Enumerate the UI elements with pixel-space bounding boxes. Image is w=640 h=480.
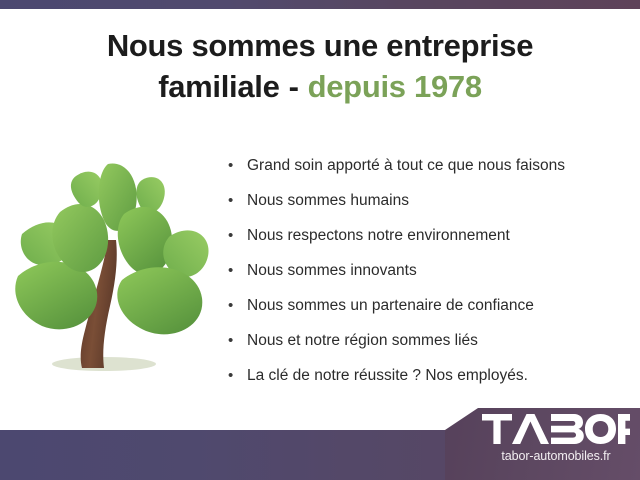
list-item-label: Nous respectons notre environnement <box>228 218 510 253</box>
tree-leaf-left-lower <box>15 262 97 330</box>
list-item: • Grand soin apporté à tout ce que nous … <box>228 148 628 183</box>
list-item: • Nous et notre région sommes liés <box>228 323 628 358</box>
list-item-label: Nous et notre région sommes liés <box>228 323 478 358</box>
page-title-line-2: familiale-depuis 1978 <box>0 67 640 108</box>
bullet-icon: • <box>228 253 244 288</box>
bullet-icon: • <box>228 218 244 253</box>
list-item: • Nous sommes humains <box>228 183 628 218</box>
tree-leaf-right-mid <box>118 207 172 275</box>
list-item: • Nous sommes innovants <box>228 253 628 288</box>
tree-leaf-upper-left-small <box>71 172 102 207</box>
top-accent-bar <box>0 0 640 9</box>
bullet-icon: • <box>228 358 244 393</box>
page-title-familiale: familiale <box>158 69 279 104</box>
tabor-wordmark <box>482 414 630 444</box>
list-item-label: La clé de notre réussite ? Nos employés. <box>228 358 528 393</box>
list-item: • La clé de notre réussite ? Nos employé… <box>228 358 628 393</box>
page-title: Nous sommes une entreprise familiale-dep… <box>0 26 640 108</box>
logo-tagline: tabor-automobiles.fr <box>482 449 630 463</box>
bullet-icon: • <box>228 288 244 323</box>
list-item-label: Nous sommes humains <box>228 183 409 218</box>
page-title-dash: - <box>289 69 299 104</box>
tree-leaf-left-mid <box>52 204 108 272</box>
page-title-line-1: Nous sommes une entreprise <box>0 26 640 67</box>
list-item: • Nous sommes un partenaire de confiance <box>228 288 628 323</box>
tree-illustration <box>12 152 222 390</box>
bullet-icon: • <box>228 183 244 218</box>
list-item: • Nous respectons notre environnement <box>228 218 628 253</box>
tree-ground-shadow <box>52 357 156 371</box>
bullet-icon: • <box>228 323 244 358</box>
page-title-since-year: depuis 1978 <box>308 69 482 104</box>
tree-leaf-right-lower <box>117 267 202 334</box>
bullet-icon: • <box>228 148 244 183</box>
value-list: • Grand soin apporté à tout ce que nous … <box>228 148 628 393</box>
slide-canvas: Nous sommes une entreprise familiale-dep… <box>0 0 640 480</box>
list-item-label: Nous sommes innovants <box>228 253 417 288</box>
list-item-label: Grand soin apporté à tout ce que nous fa… <box>228 148 565 183</box>
list-item-label: Nous sommes un partenaire de confiance <box>228 288 534 323</box>
